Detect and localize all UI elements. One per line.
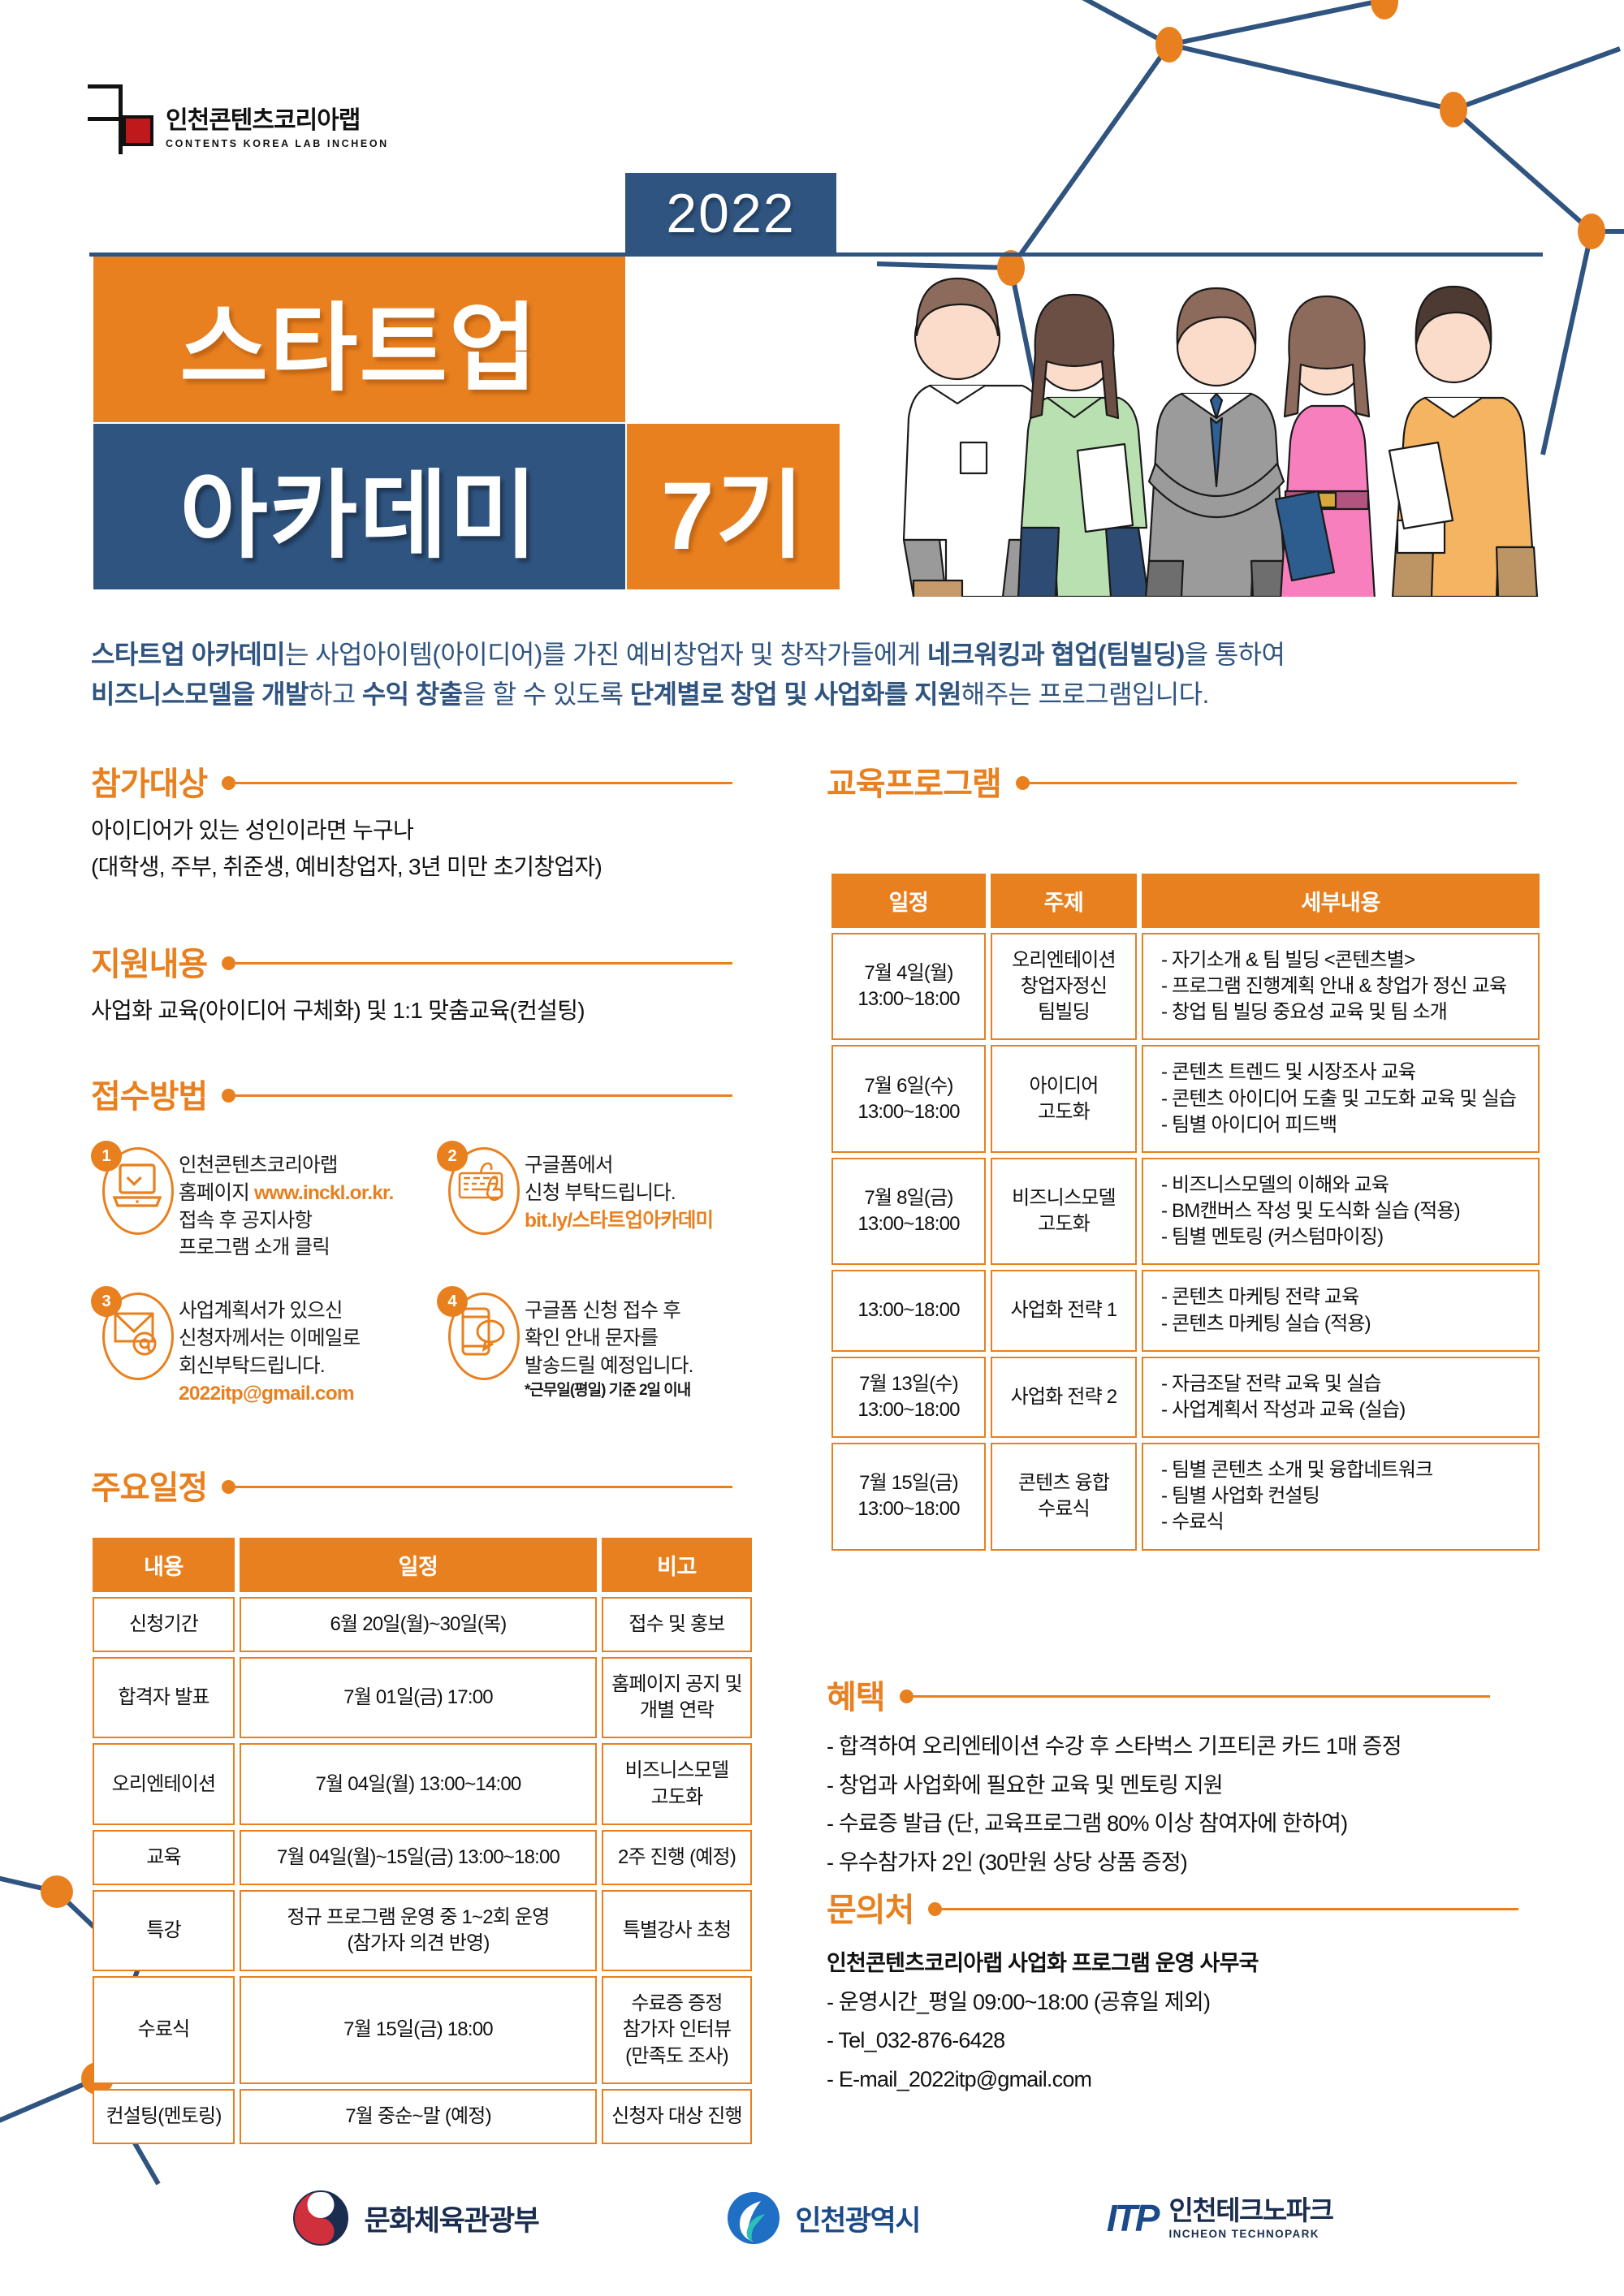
program-col-topic: 주제 — [991, 874, 1137, 928]
table-row: 특강정규 프로그램 운영 중 1~2회 운영(참가자 의견 반영)특별강사 초청 — [93, 1890, 752, 1971]
logo-mark-icon — [88, 84, 154, 154]
section-rule — [942, 1908, 1518, 1910]
support-body: 사업화 교육(아이디어 구체화) 및 1:1 맞춤교육(컨설팅) — [91, 992, 765, 1029]
contact-email[interactable]: - E-mail_2022itp@gmail.com — [827, 2061, 1549, 2100]
table-row: 7월 6일(수)13:00~18:00아이디어고도화- 콘텐츠 트렌드 및 시장… — [831, 1045, 1540, 1152]
program-cell-details: - 자금조달 전략 교육 및 실습- 사업계획서 작성과 교육 (실습) — [1142, 1357, 1540, 1438]
section-heading-contact: 문의처 — [827, 1884, 1544, 1931]
section-rule — [235, 1486, 732, 1488]
table-row: 컨설팅(멘토링)7월 중순~말 (예정)신청자 대상 진행 — [93, 2089, 752, 2144]
intro-text-3: 하고 — [309, 680, 362, 709]
schedule-cell-note: 비즈니스모델고도화 — [602, 1743, 752, 1824]
schedule-cell-date: 7월 04일(월)~15일(금) 13:00~18:00 — [240, 1830, 597, 1885]
schedule-header-row: 내용 일정 비고 — [93, 1538, 752, 1592]
intro-bold-5: 단계별로 창업 및 사업화를 지원 — [630, 680, 961, 709]
footer-logo-itp-name: 인천테크노파크 — [1168, 2197, 1332, 2224]
intro-text-5: 해주는 프로그램입니다. — [961, 680, 1209, 709]
schedule-col-date: 일정 — [240, 1538, 597, 1592]
program-cell-details: - 콘텐츠 마케팅 전략 교육- 콘텐츠 마케팅 실습 (적용) — [1142, 1270, 1540, 1351]
section-dot-icon — [900, 1690, 914, 1703]
benefit-item: - 창업과 사업화에 필요한 교육 및 멘토링 지원 — [827, 1767, 1549, 1806]
schedule-cell-item: 신청기간 — [93, 1597, 235, 1652]
benefits-list: - 합격하여 오리엔테이션 수강 후 스타벅스 기프티콘 카드 1매 증정- 창… — [827, 1728, 1549, 1882]
step-number: 1 — [91, 1141, 122, 1172]
step3-line1: 사업계획서가 있으신 — [179, 1297, 360, 1325]
table-row: 수료식7월 15일(금) 18:00수료증 증정참가자 인터뷰(만족도 조사) — [93, 1976, 752, 2083]
program-detail-line: - 자금조달 전략 교육 및 실습 — [1161, 1371, 1530, 1397]
step4-line2: 확인 안내 문자를 — [525, 1325, 693, 1353]
incheon-city-icon — [725, 2190, 782, 2246]
schedule-cell-date: 6월 20일(월)~30일(목) — [240, 1597, 597, 1652]
section-rule — [235, 962, 732, 965]
schedule-cell-note: 특별강사 초청 — [602, 1890, 752, 1971]
apply-step-1: 1 인천콘텐츠코리아랩 홈페이지 www.inckl.or.kr. 접속 후 공… — [91, 1141, 419, 1262]
step-number: 4 — [437, 1286, 468, 1317]
program-cell-details: - 콘텐츠 트렌드 및 시장조사 교육- 콘텐츠 아이디어 도출 및 고도화 교… — [1142, 1045, 1540, 1152]
section-dot-icon — [222, 1089, 235, 1103]
program-body: 7월 4일(월)13:00~18:00오리엔테이션창업자정신팀빌딩- 자기소개 … — [831, 933, 1540, 1551]
hero-title-line1: 스타트업 — [93, 257, 625, 422]
program-detail-line: - 콘텐츠 트렌드 및 시장조사 교육 — [1161, 1060, 1530, 1085]
table-row: 13:00~18:00사업화 전략 1- 콘텐츠 마케팅 전략 교육- 콘텐츠 … — [831, 1270, 1540, 1351]
intro-text-4: 을 할 수 있도록 — [463, 680, 630, 709]
benefit-item: - 우수참가자 2인 (30만원 상당 상품 증정) — [827, 1844, 1549, 1883]
schedule-cell-note: 신청자 대상 진행 — [602, 2089, 752, 2144]
program-detail-line: - 팀별 아이디어 피드백 — [1161, 1112, 1530, 1138]
section-rule — [235, 782, 732, 784]
program-detail-line: - 팀별 멘토링 (커스텀마이징) — [1161, 1224, 1530, 1250]
program-detail-line: - 콘텐츠 아이디어 도출 및 고도화 교육 및 실습 — [1161, 1086, 1530, 1112]
schedule-cell-date: 정규 프로그램 운영 중 1~2회 운영(참가자 의견 반영) — [240, 1890, 597, 1971]
participants-line-2: (대학생, 주부, 취준생, 예비창업자, 3년 미만 초기창업자) — [91, 848, 765, 885]
section-rule — [1030, 782, 1517, 784]
keyboard-icon: 2 — [437, 1141, 525, 1236]
section-heading-benefits: 혜택 — [827, 1671, 1544, 1718]
step1-line4: 프로그램 소개 클릭 — [179, 1234, 393, 1262]
step1-line2-prefix: 홈페이지 — [179, 1182, 254, 1204]
taegeuk-icon — [291, 2188, 351, 2248]
benefit-item: - 수료증 발급 (단, 교육프로그램 80% 이상 참여자에 한하여) — [827, 1805, 1549, 1844]
table-row: 7월 8일(금)13:00~18:00비즈니스모델고도화- 비즈니스모델의 이해… — [831, 1158, 1540, 1265]
laptop-icon: 1 — [91, 1141, 179, 1236]
schedule-body: 신청기간6월 20일(월)~30일(목)접수 및 홍보합격자 발표7월 01일(… — [93, 1597, 752, 2144]
schedule-cell-item: 수료식 — [93, 1976, 235, 2083]
section-dot-icon — [1016, 776, 1030, 790]
contact-hours: - 운영시간_평일 09:00~18:00 (공휴일 제외) — [827, 1983, 1549, 2022]
intro-paragraph: 스타트업 아카데미는 사업아이템(아이디어)를 가진 예비창업자 및 창작가들에… — [91, 635, 1553, 714]
schedule-cell-note: 접수 및 홍보 — [602, 1597, 752, 1652]
program-cell-date: 7월 6일(수)13:00~18:00 — [831, 1045, 986, 1152]
program-detail-line: - 콘텐츠 마케팅 전략 교육 — [1161, 1284, 1530, 1310]
program-detail-line: - 수료식 — [1161, 1509, 1530, 1535]
table-row: 신청기간6월 20일(월)~30일(목)접수 및 홍보 — [93, 1597, 752, 1652]
apply-step-1-text: 인천콘텐츠코리아랩 홈페이지 www.inckl.or.kr. 접속 후 공지사… — [179, 1141, 393, 1262]
schedule-col-note: 비고 — [602, 1538, 752, 1592]
hero-title-line2: 아카데미 — [93, 424, 625, 589]
program-detail-line: - 사업계획서 작성과 교육 (실습) — [1161, 1397, 1530, 1423]
section-title-participants: 참가대상 — [91, 757, 207, 805]
step1-homepage-url[interactable]: www.inckl.or.kr. — [254, 1182, 393, 1204]
section-heading-participants: 참가대상 — [91, 757, 732, 805]
section-dot-icon — [222, 1480, 235, 1494]
hero-title-line1-text: 스타트업 — [179, 270, 538, 409]
section-title-contact: 문의처 — [827, 1884, 914, 1931]
program-cell-topic: 비즈니스모델고도화 — [991, 1158, 1137, 1265]
program-cell-date: 7월 13일(수)13:00~18:00 — [831, 1357, 986, 1438]
schedule-cell-date: 7월 15일(금) 18:00 — [240, 1976, 597, 2083]
program-cell-topic: 아이디어고도화 — [991, 1045, 1137, 1152]
schedule-col-item: 내용 — [93, 1538, 235, 1592]
program-cell-date: 7월 4일(월)13:00~18:00 — [831, 933, 986, 1040]
section-heading-support: 지원내용 — [91, 938, 732, 985]
program-cell-details: - 비즈니스모델의 이해와 교육- BM캔버스 작성 및 도식화 실습 (적용)… — [1142, 1158, 1540, 1265]
program-cell-topic: 오리엔테이션창업자정신팀빌딩 — [991, 933, 1137, 1040]
footer-logo-incheon-name: 인천광역시 — [795, 2198, 920, 2239]
program-cell-details: - 팀별 콘텐츠 소개 및 융합네트워크- 팀별 사업화 컨설팅- 수료식 — [1142, 1443, 1540, 1550]
hero-title-line2-text: 아카데미 — [179, 438, 538, 576]
schedule-cell-item: 오리엔테이션 — [93, 1743, 235, 1824]
step-number: 3 — [91, 1286, 122, 1317]
apply-step-4-text: 구글폼 신청 접수 후 확인 안내 문자를 발송드릴 예정입니다. *근무일(평… — [525, 1286, 693, 1401]
section-rule — [235, 1094, 732, 1097]
intro-bold-1: 스타트업 아카데미 — [91, 640, 285, 669]
contact-block: 인천콘텐츠코리아랩 사업화 프로그램 운영 사무국 - 운영시간_평일 09:0… — [827, 1944, 1549, 2099]
schedule-cell-item: 합격자 발표 — [93, 1657, 235, 1738]
program-table: 일정 주제 세부내용 7월 4일(월)13:00~18:00오리엔테이션창업자정… — [827, 869, 1544, 1556]
support-line-1: 사업화 교육(아이디어 구체화) 및 1:1 맞춤교육(컨설팅) — [91, 992, 765, 1029]
contact-org: 인천콘텐츠코리아랩 사업화 프로그램 운영 사무국 — [827, 1944, 1549, 1983]
section-title-program: 교육프로그램 — [827, 757, 1001, 805]
program-detail-line: - 자기소개 & 팀 빌딩 <콘텐츠별> — [1161, 947, 1530, 973]
envelope-at-icon: 3 — [91, 1286, 179, 1382]
table-row: 오리엔테이션7월 04일(월) 13:00~14:00비즈니스모델고도화 — [93, 1743, 752, 1824]
program-col-date: 일정 — [831, 874, 986, 928]
step1-line1: 인천콘텐츠코리아랩 — [179, 1152, 393, 1180]
intro-text-1: 는 사업아이템(아이디어)를 가진 예비창업자 및 창작가들에게 — [285, 640, 927, 669]
footer-logos: 문화체육관광부 인천광역시 ITP 인천테크노파크 INCHEON TECHNO… — [0, 2169, 1624, 2267]
section-title-schedule: 주요일정 — [91, 1461, 207, 1508]
intro-bold-4: 수익 창출 — [362, 680, 463, 709]
apply-step-3: 3 사업계획서가 있으신 신청자께서는 이메일로 회신부탁드립니다. 2022i… — [91, 1286, 419, 1407]
program-detail-line: - 비즈니스모델의 이해와 교육 — [1161, 1172, 1530, 1198]
step-number: 2 — [437, 1141, 468, 1172]
intro-bold-3: 비즈니스모델을 개발 — [91, 680, 309, 709]
people-illustration — [897, 231, 1539, 597]
intro-text-2: 을 통하여 — [1185, 640, 1285, 669]
table-row: 교육7월 04일(월)~15일(금) 13:00~18:002주 진행 (예정) — [93, 1830, 752, 1885]
schedule-cell-item: 교육 — [93, 1830, 235, 1885]
logo-english-name: CONTENTS KOREA LAB INCHEON — [166, 138, 389, 149]
hero-cohort: 7기 — [627, 424, 840, 589]
program-cell-date: 7월 15일(금)13:00~18:00 — [831, 1443, 986, 1550]
step3-email[interactable]: 2022itp@gmail.com — [179, 1380, 360, 1408]
section-title-benefits: 혜택 — [827, 1671, 885, 1718]
step4-note: *근무일(평일) 기준 2일 이내 — [525, 1380, 693, 1401]
apply-steps: 1 인천콘텐츠코리아랩 홈페이지 www.inckl.or.kr. 접속 후 공… — [91, 1141, 765, 1431]
step4-line3: 발송드릴 예정입니다. — [525, 1353, 693, 1380]
footer-logo-itp: ITP 인천테크노파크 INCHEON TECHNOPARK — [1107, 2196, 1333, 2240]
footer-logo-itp-sub: INCHEON TECHNOPARK — [1168, 2228, 1332, 2240]
program-detail-line: - 팀별 콘텐츠 소개 및 융합네트워크 — [1161, 1457, 1530, 1483]
section-title-apply: 접수방법 — [91, 1070, 207, 1117]
schedule-cell-date: 7월 01일(금) 17:00 — [240, 1657, 597, 1738]
schedule-table: 내용 일정 비고 신청기간6월 20일(월)~30일(목)접수 및 홍보합격자 … — [88, 1533, 757, 2149]
program-cell-details: - 자기소개 & 팀 빌딩 <콘텐츠별>- 프로그램 진행계획 안내 & 창업가… — [1142, 933, 1540, 1040]
hero-cohort-text: 7기 — [661, 438, 806, 576]
section-title-support: 지원내용 — [91, 938, 207, 985]
section-heading-apply: 접수방법 — [91, 1070, 732, 1117]
program-cell-topic: 콘텐츠 융합수료식 — [991, 1443, 1137, 1550]
section-heading-program: 교육프로그램 — [827, 757, 1544, 805]
footer-logo-itp-mark: ITP — [1107, 2196, 1158, 2240]
step3-line3: 회신부탁드립니다. — [179, 1353, 360, 1380]
program-cell-topic: 사업화 전략 2 — [991, 1357, 1137, 1438]
program-detail-line: - BM캔버스 작성 및 도식화 실습 (적용) — [1161, 1198, 1530, 1224]
step1-line3: 접속 후 공지사항 — [179, 1207, 393, 1235]
step4-line1: 구글폼 신청 접수 후 — [525, 1297, 693, 1325]
brand-logo: 인천콘텐츠코리아랩 CONTENTS KOREA LAB INCHEON — [88, 84, 389, 154]
hero-year: 2022 — [625, 173, 836, 254]
table-row: 7월 13일(수)13:00~18:00사업화 전략 2- 자금조달 전략 교육… — [831, 1357, 1540, 1438]
intro-bold-2: 네크워킹과 협업(팀빌딩) — [927, 640, 1185, 669]
program-detail-line: - 콘텐츠 마케팅 실습 (적용) — [1161, 1311, 1530, 1337]
program-header-row: 일정 주제 세부내용 — [831, 874, 1540, 928]
table-row: 합격자 발표7월 01일(금) 17:00홈페이지 공지 및개별 연락 — [93, 1657, 752, 1738]
section-dot-icon — [928, 1902, 942, 1916]
schedule-cell-note: 홈페이지 공지 및개별 연락 — [602, 1657, 752, 1738]
apply-step-2-text: 구글폼에서 신청 부탁드립니다. bit.ly/스타트업아카데미 — [525, 1141, 713, 1234]
program-col-details: 세부내용 — [1142, 874, 1540, 928]
schedule-cell-date: 7월 04일(월) 13:00~14:00 — [240, 1743, 597, 1824]
step3-line2: 신청자께서는 이메일로 — [179, 1325, 360, 1353]
footer-logo-mcst: 문화체육관광부 — [291, 2188, 538, 2248]
participants-line-1: 아이디어가 있는 성인이라면 누구나 — [91, 812, 765, 848]
section-dot-icon — [222, 776, 235, 790]
schedule-cell-date: 7월 중순~말 (예정) — [240, 2089, 597, 2144]
participants-body: 아이디어가 있는 성인이라면 누구나 (대학생, 주부, 취준생, 예비창업자,… — [91, 812, 765, 886]
table-row: 7월 4일(월)13:00~18:00오리엔테이션창업자정신팀빌딩- 자기소개 … — [831, 933, 1540, 1040]
benefit-item: - 합격하여 오리엔테이션 수강 후 스타벅스 기프티콘 카드 1매 증정 — [827, 1728, 1549, 1767]
apply-step-4: 4 구글폼 신청 접수 후 확인 안내 문자를 발송드릴 예정입니다. *근무일… — [437, 1286, 765, 1407]
program-cell-date: 13:00~18:00 — [831, 1270, 986, 1351]
schedule-cell-note: 2주 진행 (예정) — [602, 1830, 752, 1885]
section-heading-schedule: 주요일정 — [91, 1461, 732, 1508]
schedule-cell-item: 특강 — [93, 1890, 235, 1971]
step2-line1: 구글폼에서 — [525, 1152, 713, 1180]
footer-logo-mcst-name: 문화체육관광부 — [364, 2198, 538, 2239]
footer-logo-incheon: 인천광역시 — [725, 2190, 920, 2246]
table-row: 7월 15일(금)13:00~18:00콘텐츠 융합수료식- 팀별 콘텐츠 소개… — [831, 1443, 1540, 1550]
apply-step-2: 2 구글폼에서 신청 부탁드립니다. bit.ly/스타트업아카데미 — [437, 1141, 765, 1262]
program-cell-date: 7월 8일(금)13:00~18:00 — [831, 1158, 986, 1265]
mobile-chat-icon: 4 — [437, 1286, 525, 1382]
logo-korean-name: 인천콘텐츠코리아랩 — [166, 100, 389, 136]
step2-line2: 신청 부탁드립니다. — [525, 1180, 713, 1207]
section-dot-icon — [222, 956, 235, 970]
step2-form-url[interactable]: bit.ly/스타트업아카데미 — [525, 1207, 713, 1235]
apply-step-3-text: 사업계획서가 있으신 신청자께서는 이메일로 회신부탁드립니다. 2022itp… — [179, 1286, 360, 1407]
program-cell-topic: 사업화 전략 1 — [991, 1270, 1137, 1351]
program-detail-line: - 팀별 사업화 컨설팅 — [1161, 1483, 1530, 1509]
schedule-cell-item: 컨설팅(멘토링) — [93, 2089, 235, 2144]
contact-tel[interactable]: - Tel_032-876-6428 — [827, 2022, 1549, 2061]
program-detail-line: - 프로그램 진행계획 안내 & 창업가 정신 교육 — [1161, 973, 1530, 999]
schedule-cell-note: 수료증 증정참가자 인터뷰(만족도 조사) — [602, 1976, 752, 2083]
program-detail-line: - 창업 팀 빌딩 중요성 교육 및 팀 소개 — [1161, 999, 1530, 1025]
section-rule — [914, 1695, 1490, 1698]
